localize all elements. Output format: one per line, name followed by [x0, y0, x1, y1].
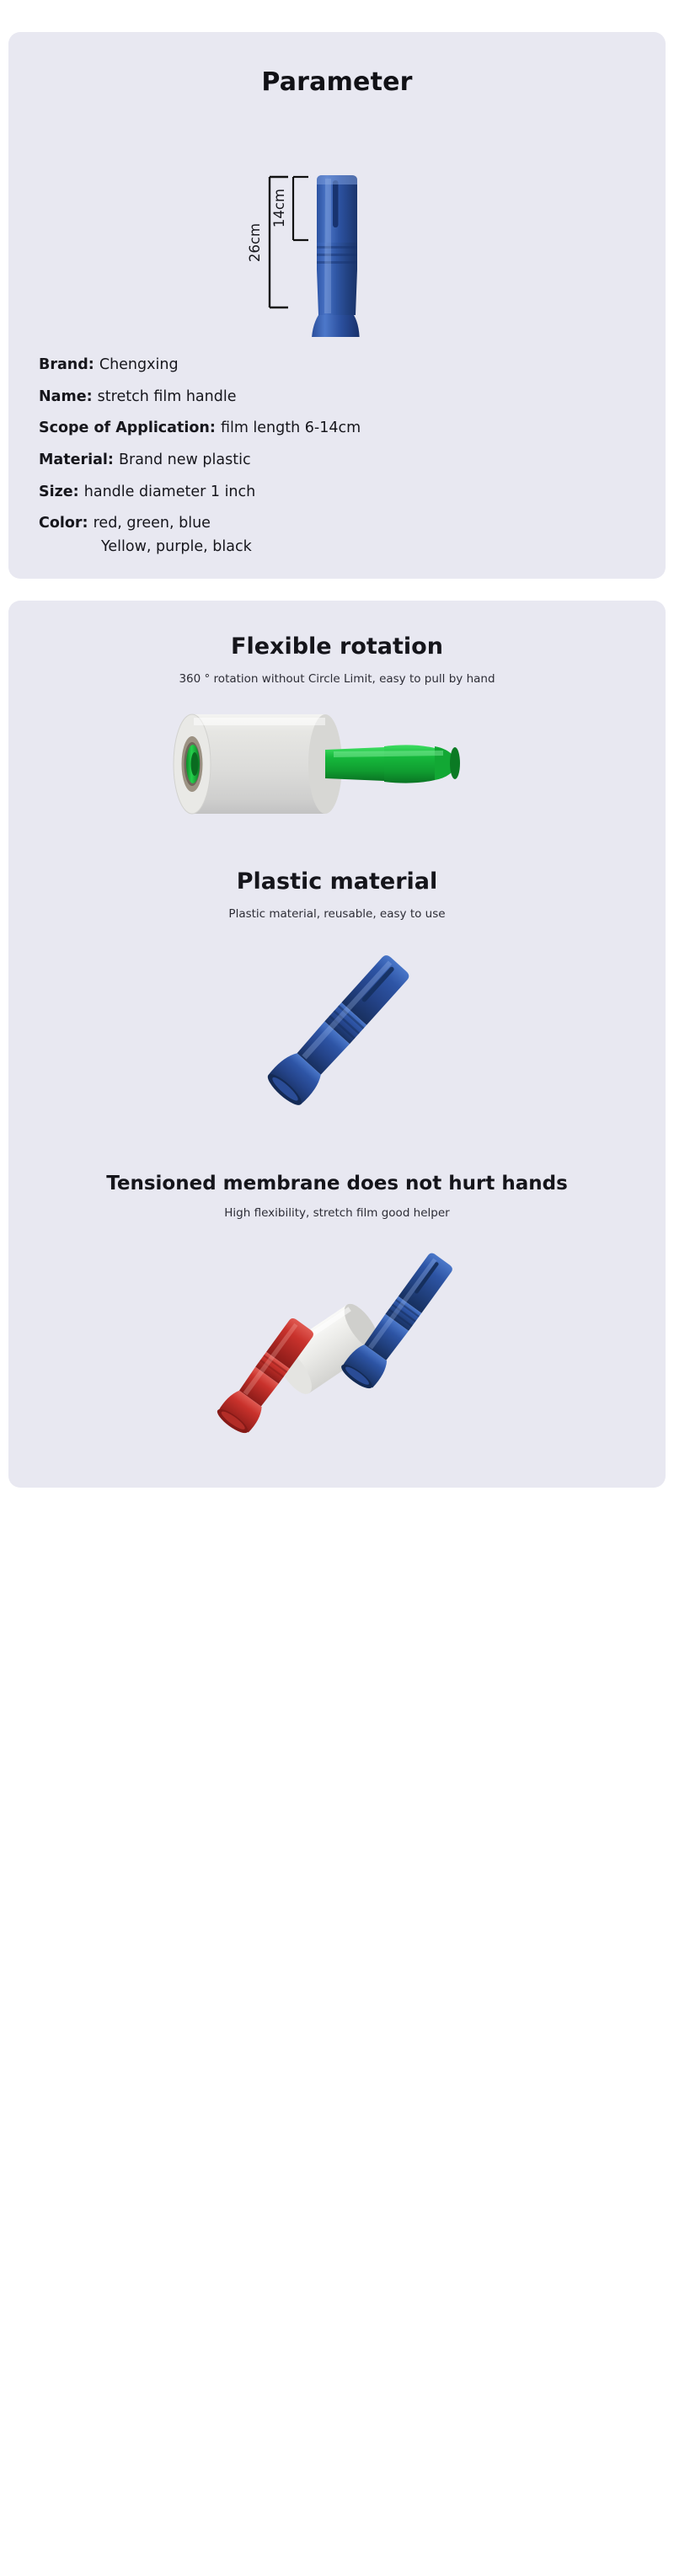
spec-value: stretch film handle	[98, 388, 237, 405]
blue-plastic-handle-diagonal-image	[8, 933, 666, 1128]
specification-list: Brand: Chengxing Name: stretch film hand…	[8, 337, 666, 557]
spec-row: Name: stretch film handle	[8, 387, 666, 420]
feature-subtitle: 360 ° rotation without Circle Limit, eas…	[8, 661, 666, 687]
spec-row: Brand: Chengxing	[8, 355, 666, 387]
features-card: Flexible rotation 360 ° rotation without…	[8, 601, 666, 1488]
spec-key: Color	[39, 515, 83, 532]
film-roll-with-green-handle-image	[8, 703, 666, 827]
dimension-label-14cm: 14cm	[271, 189, 287, 227]
blue-handle-diagonal-svg	[168, 933, 505, 1128]
spec-row: Scope of Application: film length 6-14cm	[8, 419, 666, 451]
spec-key: Material	[39, 452, 108, 468]
feature-title: Plastic material	[8, 868, 666, 896]
dimension-bracket-14cm	[293, 177, 308, 240]
handle-technical-drawing-svg: 26cm 14cm	[160, 103, 514, 337]
page-title: Parameter	[8, 32, 666, 98]
feature-title: Flexible rotation	[8, 633, 666, 661]
feature-subtitle: Plastic material, reusable, easy to use	[8, 896, 666, 922]
feature-plastic-material: Plastic material Plastic material, reusa…	[8, 827, 666, 1128]
feature-subtitle: High flexibility, stretch film good help…	[8, 1195, 666, 1221]
feature-tensioned-membrane: Tensioned membrane does not hurt hands H…	[8, 1128, 666, 1455]
spec-value: Chengxing	[99, 356, 179, 373]
parameter-card: Parameter	[8, 32, 666, 579]
spec-key: Name	[39, 388, 87, 405]
spec-row: Size: handle diameter 1 inch	[8, 483, 666, 515]
spec-value: Brand new plastic	[119, 452, 251, 468]
spec-value-line2: Yellow, purple, black	[39, 534, 666, 558]
blue-and-red-handles-with-film-roll-image	[8, 1237, 666, 1454]
film-roll-green-handle-svg	[168, 703, 505, 827]
crossed-handles-film-roll-svg	[168, 1237, 505, 1454]
spec-row: Color: red, green, blue Yellow, purple, …	[8, 514, 666, 557]
spec-row: Material: Brand new plastic	[8, 451, 666, 483]
spec-key: Size	[39, 484, 73, 500]
card-separator	[0, 579, 674, 601]
parameter-diagram: 26cm 14cm	[8, 103, 666, 337]
spec-key: Brand	[39, 356, 88, 373]
blue-handle-illustration	[312, 175, 360, 337]
dimension-label-26cm: 26cm	[247, 223, 263, 262]
feature-title: Tensioned membrane does not hurt hands	[8, 1172, 666, 1196]
product-detail-page: Parameter	[0, 32, 674, 1488]
spec-value: handle diameter 1 inch	[84, 484, 255, 500]
feature-flexible-rotation: Flexible rotation 360 ° rotation without…	[8, 601, 666, 827]
spec-value: film length 6-14cm	[221, 420, 361, 436]
spec-value: red, green, blue	[94, 515, 211, 532]
spec-key: Scope of Application	[39, 420, 210, 436]
